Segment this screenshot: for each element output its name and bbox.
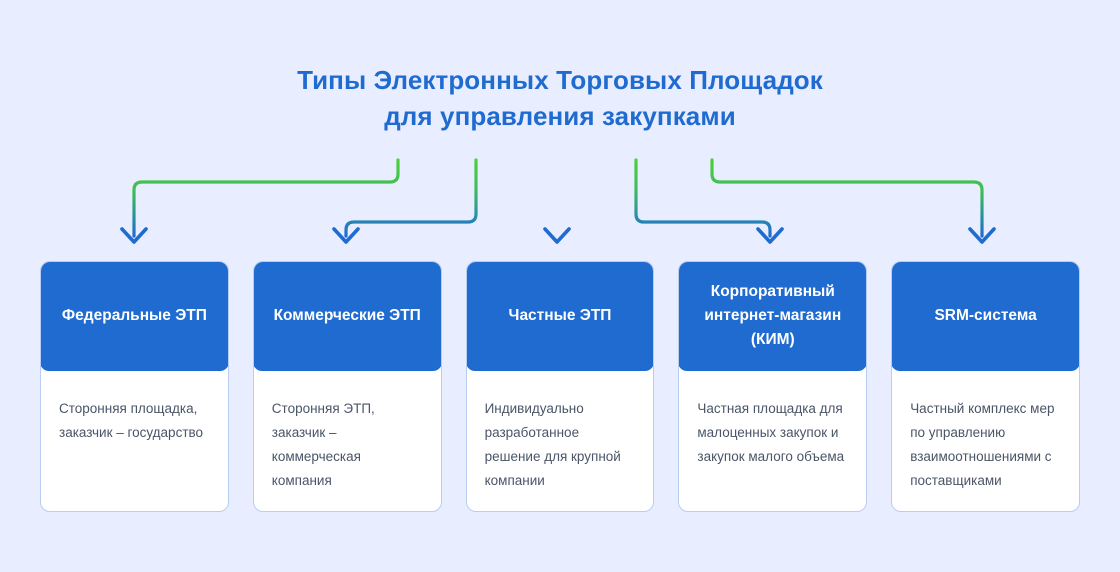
card-title: Корпоративный интернет-магазин (КИМ): [692, 280, 853, 352]
page-title: Типы Электронных Торговых Площадок для у…: [0, 62, 1120, 134]
card-description: Сторонняя площадка, заказчик – государст…: [59, 401, 203, 440]
card-private-etp[interactable]: Частные ЭТП Индивидуально разработанное …: [466, 261, 655, 512]
card-body: Сторонняя площадка, заказчик – государст…: [41, 371, 228, 511]
infographic-root: Типы Электронных Торговых Площадок для у…: [0, 0, 1120, 572]
card-header: SRM-система: [891, 261, 1080, 371]
card-header: Федеральные ЭТП: [40, 261, 229, 371]
page-title-line-2: для управления закупками: [0, 98, 1120, 134]
connector-to-federal: [122, 160, 398, 242]
card-description: Сторонняя ЭТП, заказчик – коммерческая к…: [272, 401, 375, 488]
card-title: SRM-система: [934, 304, 1036, 328]
card-srm-system[interactable]: SRM-система Частный комплекс мер по упра…: [891, 261, 1080, 512]
card-body: Частная площадка для малоценных закупок …: [679, 371, 866, 511]
card-description: Частный комплекс мер по управлению взаим…: [910, 401, 1054, 488]
card-header: Частные ЭТП: [466, 261, 655, 371]
card-title: Федеральные ЭТП: [62, 304, 207, 328]
card-description: Частная площадка для малоценных закупок …: [697, 401, 844, 464]
card-header: Коммерческие ЭТП: [253, 261, 442, 371]
connector-to-kim: [636, 160, 782, 242]
connector-to-srm: [712, 160, 994, 242]
card-body: Частный комплекс мер по управлению взаим…: [892, 371, 1079, 511]
card-corporate-internet-shop[interactable]: Корпоративный интернет-магазин (КИМ) Час…: [678, 261, 867, 512]
connector-to-private: [545, 160, 569, 242]
card-body: Сторонняя ЭТП, заказчик – коммерческая к…: [254, 371, 441, 511]
card-title: Частные ЭТП: [509, 304, 612, 328]
card-list: Федеральные ЭТП Сторонняя площадка, зака…: [40, 261, 1080, 512]
card-title: Коммерческие ЭТП: [274, 304, 421, 328]
card-body: Индивидуально разработанное решение для …: [467, 371, 654, 511]
page-title-line-1: Типы Электронных Торговых Площадок: [0, 62, 1120, 98]
card-federal-etp[interactable]: Федеральные ЭТП Сторонняя площадка, зака…: [40, 261, 229, 512]
card-header: Корпоративный интернет-магазин (КИМ): [678, 261, 867, 371]
connector-to-commercial: [334, 160, 476, 242]
card-description: Индивидуально разработанное решение для …: [485, 401, 621, 488]
card-commercial-etp[interactable]: Коммерческие ЭТП Сторонняя ЭТП, заказчик…: [253, 261, 442, 512]
